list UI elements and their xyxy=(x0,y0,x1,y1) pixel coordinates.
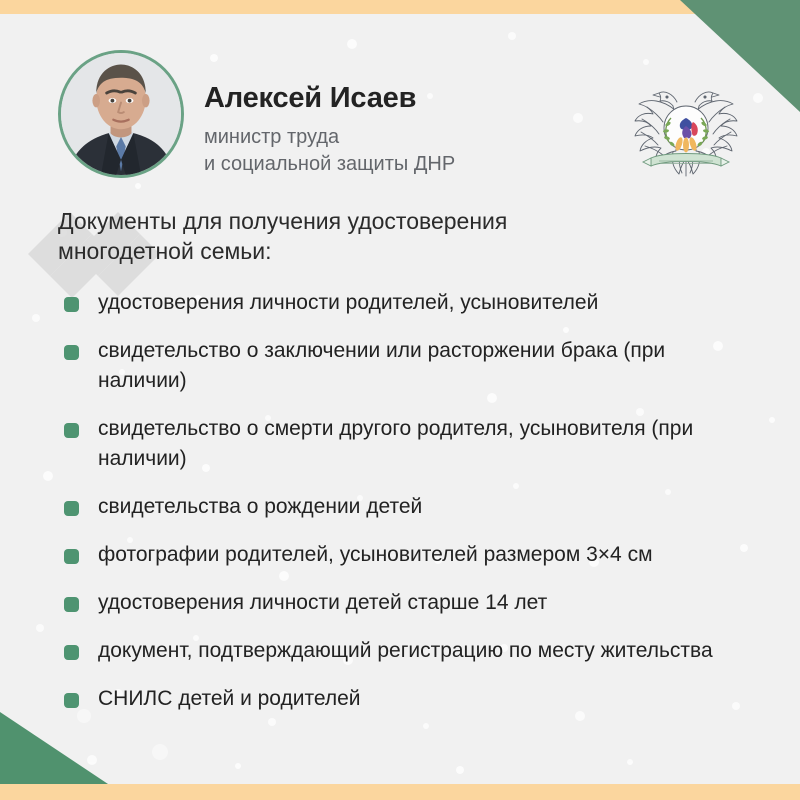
bullet-icon xyxy=(64,549,79,564)
list-item-label: свидетельства о рождении детей xyxy=(98,495,422,518)
list-item: документ, подтверждающий регистрацию по … xyxy=(0,636,740,666)
list-item-label: удостоверения личности детей старше 14 л… xyxy=(98,591,547,614)
list-item-label: свидетельство о смерти другого родителя,… xyxy=(98,417,693,470)
list-item: свидетельство о смерти другого родителя,… xyxy=(0,414,740,474)
list-item: свидетельства о рождении детей xyxy=(0,492,740,522)
person-role: министр труда и социальной защиты ДНР xyxy=(204,124,455,178)
list-item-label: свидетельство о заключении или расторжен… xyxy=(98,339,665,392)
peach-bar-bottom xyxy=(0,784,800,800)
list-item-label: СНИЛС детей и родителей xyxy=(98,687,361,710)
bullet-icon xyxy=(64,645,79,660)
bullet-icon xyxy=(64,345,79,360)
person-role-line-2: и социальной защиты ДНР xyxy=(204,151,455,178)
bullet-icon xyxy=(64,501,79,516)
list-item: удостоверения личности родителей, усынов… xyxy=(0,288,740,318)
list-item: СНИЛС детей и родителей xyxy=(0,684,740,714)
bullet-icon xyxy=(64,693,79,708)
bullet-icon xyxy=(64,297,79,312)
list-item-label: удостоверения личности родителей, усынов… xyxy=(98,291,598,314)
page-title-line-1: Документы для получения удостоверения xyxy=(58,206,678,236)
list-item: фотографии родителей, усыновителей разме… xyxy=(0,540,740,570)
peach-bar-top xyxy=(0,0,713,14)
list-item: удостоверения личности детей старше 14 л… xyxy=(0,588,740,618)
bullet-icon xyxy=(64,597,79,612)
header: Алексей Исаев министр труда и социальной… xyxy=(0,14,800,204)
list-item-label: фотографии родителей, усыновителей разме… xyxy=(98,543,653,566)
list-item: свидетельство о заключении или расторжен… xyxy=(0,336,740,396)
list-item-label: документ, подтверждающий регистрацию по … xyxy=(98,639,713,662)
infographic-card: Алексей Исаев министр труда и социальной… xyxy=(0,0,800,800)
page-title-line-2: многодетной семьи: xyxy=(58,236,678,266)
avatar xyxy=(58,50,184,178)
person-role-line-1: министр труда xyxy=(204,124,455,151)
bullet-icon xyxy=(64,423,79,438)
documents-list: удостоверения личности родителей, усынов… xyxy=(0,288,800,714)
person-name: Алексей Исаев xyxy=(204,82,416,115)
page-title: Документы для получения удостоверения мн… xyxy=(58,206,678,266)
dnr-coat-of-arms-emblem xyxy=(627,66,745,184)
content: Документы для получения удостоверения мн… xyxy=(0,206,800,732)
